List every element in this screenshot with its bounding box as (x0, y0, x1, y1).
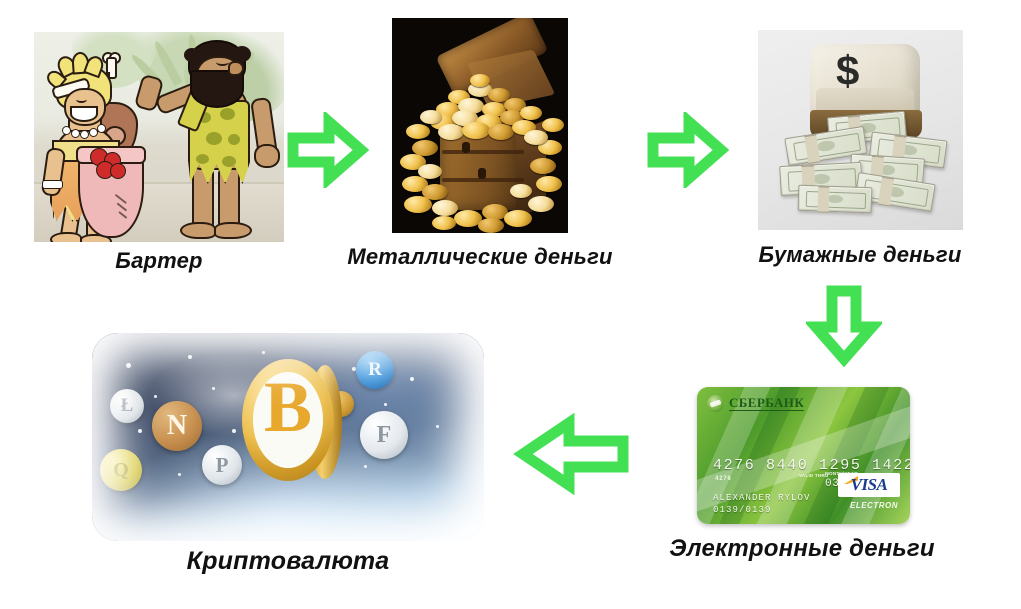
cryptocurrency-image: Ł N Q P R F B (92, 333, 484, 541)
caption-cryptocurrency: Криптовалюта (102, 547, 474, 576)
bill-strap (817, 186, 829, 212)
visa-logo: VISA (838, 473, 900, 497)
caveman-fist (254, 144, 280, 168)
evolution-of-money-diagram: Бартер (0, 0, 1021, 609)
sberbank-wordmark: СБЕРБАНК (729, 396, 804, 411)
gold-coin (478, 218, 504, 233)
caveman-foot (180, 222, 216, 239)
gold-coin (528, 196, 554, 212)
gold-coin (510, 184, 532, 198)
barter-cartoon-image (34, 32, 284, 242)
dollar-sign: $ (836, 50, 859, 92)
card-number-small: 4276 (715, 475, 731, 482)
tunic-spot (228, 134, 240, 145)
gold-coin (438, 124, 464, 140)
gold-coin (542, 118, 564, 132)
image-vignette (92, 333, 484, 541)
gold-coin (420, 110, 442, 124)
apple (110, 163, 126, 179)
cavewoman-eye (76, 96, 87, 103)
gold-coin (504, 210, 532, 227)
gold-coin (432, 216, 456, 230)
card-number: 4276 8440 1295 1422 (713, 457, 910, 474)
cavewoman-smile (70, 106, 98, 122)
tunic-spot (206, 132, 222, 145)
holder-code-line: 0139/0139 (713, 504, 811, 516)
cavewoman-wristband (42, 180, 63, 189)
gold-coin (520, 106, 542, 120)
gold-coin (406, 124, 430, 139)
gold-coin (404, 196, 432, 213)
chest-keyhole (462, 142, 470, 153)
bill-stack (798, 185, 873, 214)
tunic-spot (220, 108, 235, 120)
tunic-spot (196, 154, 209, 164)
sberbank-emblem-icon (707, 395, 724, 412)
gold-coin (530, 158, 556, 174)
caveman-nose (228, 61, 244, 76)
caption-paper-money: Бумажные деньги (740, 242, 980, 268)
cavewoman-figure (46, 64, 150, 236)
caption-electronic-money: Электронные деньги (587, 535, 1017, 563)
chest-band (442, 150, 524, 154)
gold-coin (536, 176, 562, 192)
caveman-figure (162, 40, 270, 236)
gold-coin (488, 124, 514, 140)
cavewoman-foot (50, 232, 82, 242)
gold-coin (524, 130, 548, 145)
arrow-metal-to-paper (645, 112, 729, 188)
card-holder-name: ALEXANDER RYLOV 0139/0139 (713, 492, 811, 516)
caption-metal-money: Металлические деньги (320, 244, 640, 270)
sberbank-logo: СБЕРБАНК (707, 395, 804, 412)
hundred-dollar-bill (800, 187, 871, 211)
gold-coin (462, 122, 490, 139)
caveman-foot (214, 222, 252, 239)
visa-electron-label: ELECTRON (850, 501, 898, 510)
caveman-eye (216, 58, 229, 66)
bag-fold (119, 211, 128, 218)
visa-wordmark: VISA (851, 475, 888, 495)
gold-coin (432, 200, 458, 216)
gold-coin (470, 74, 490, 87)
treasure-chest-image (392, 18, 568, 233)
money-bag-image: $ (758, 30, 963, 230)
chest-keyhole (478, 168, 486, 179)
holder-name-line: ALEXANDER RYLOV (713, 492, 811, 504)
arrow-electronic-to-crypto (513, 413, 631, 495)
arrow-paper-to-electronic (806, 283, 882, 367)
sberbank-card-image: СБЕРБАНК 4276 8440 1295 1422 4276 VALID … (697, 387, 910, 524)
arrow-barter-to-metal (285, 112, 369, 188)
caption-barter: Бартер (34, 248, 284, 274)
